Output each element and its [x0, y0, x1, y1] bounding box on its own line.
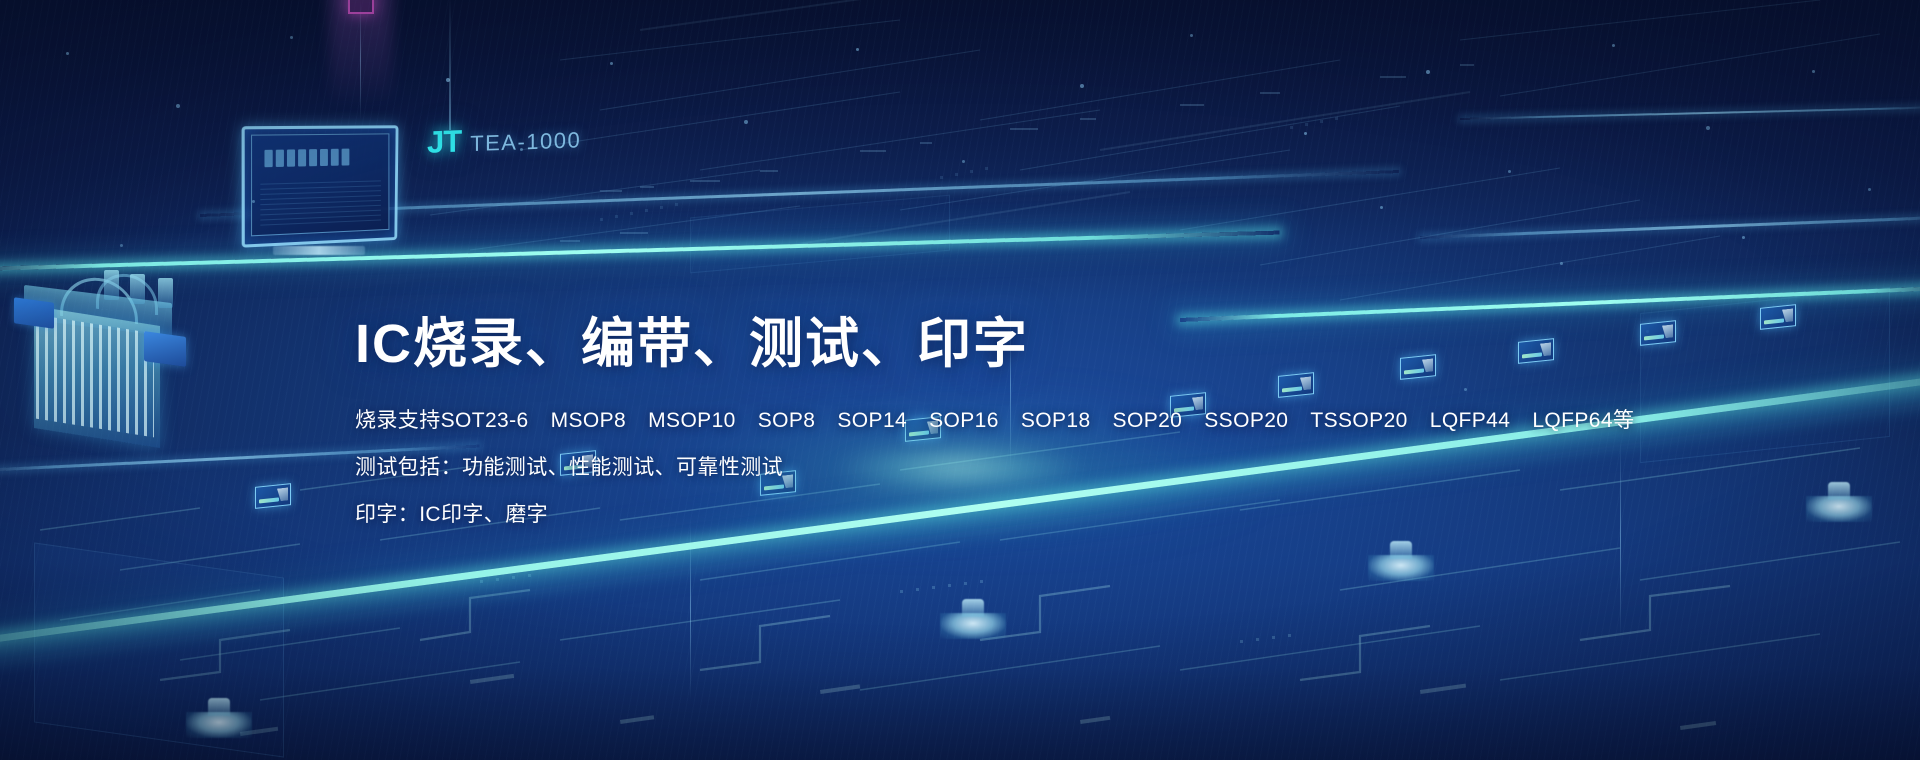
package-lqfp44: LQFP44 [1430, 409, 1511, 432]
banner-copy: IC烧录、编带、测试、印字 烧录支持SOT23-6MSOP8MSOP10SOP8… [355, 316, 1605, 525]
package-lqfp64: LQFP64等 [1532, 409, 1634, 432]
package-msop10: MSOP10 [648, 409, 736, 432]
page-title: IC烧录、编带、测试、印字 [355, 316, 1605, 372]
package-sop14: SOP14 [837, 409, 907, 432]
package-ssop20: SSOP20 [1204, 409, 1288, 432]
package-sop16: SOP16 [929, 409, 999, 432]
package-tssop20: TSSOP20 [1310, 409, 1407, 432]
package-sop18: SOP18 [1021, 409, 1091, 432]
package-msop8: MSOP8 [551, 409, 627, 432]
banner-stage: JT TEA-1000 [0, 0, 1920, 760]
marking-scope-line: 印字：IC印字、磨字 [355, 504, 1605, 525]
package-sop20: SOP20 [1113, 409, 1183, 432]
burn-support-prefix: 烧录支持SOT23-6 [355, 409, 529, 432]
burn-support-line: 烧录支持SOT23-6MSOP8MSOP10SOP8SOP14SOP16SOP1… [355, 410, 1605, 431]
package-sop8: SOP8 [758, 409, 816, 432]
test-scope-line: 测试包括：功能测试、性能测试、可靠性测试 [355, 457, 1605, 478]
